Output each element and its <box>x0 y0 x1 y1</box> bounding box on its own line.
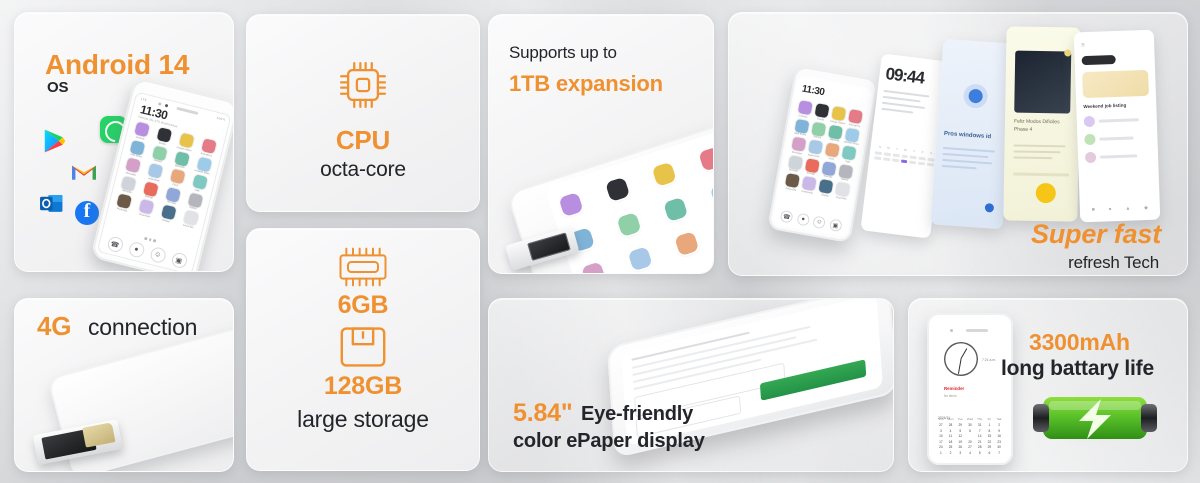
app-tile-icon <box>797 100 812 115</box>
calendar-day[interactable]: 24 <box>936 445 946 449</box>
card-storage[interactable]: 6GB 128GB large storage <box>246 228 480 471</box>
app-tile-label: Recorder <box>789 168 799 172</box>
fan-list-heading: Weekend job listing <box>1083 103 1126 109</box>
app-tile-icon <box>808 140 823 155</box>
cpu-chip-icon <box>335 57 391 113</box>
refresh-subtitle: refresh Tech <box>1068 253 1159 273</box>
calendar-day[interactable]: 18 <box>946 440 956 444</box>
expansion-line2: 1TB expansion <box>509 71 663 97</box>
calendar-week: 3456789 <box>936 429 1004 433</box>
calendar-day[interactable]: 15 <box>985 434 995 438</box>
calendar-week: 24252627282930 <box>936 445 1004 449</box>
app-tile-icon <box>818 179 833 194</box>
calendar-week: 1234567 <box>936 451 1004 455</box>
app-tile[interactable]: Clock <box>823 142 842 161</box>
calendar-day[interactable]: 25 <box>946 445 956 449</box>
calendar-day[interactable]: 14 <box>975 434 985 438</box>
app-tile[interactable]: Wireless Share <box>843 127 862 146</box>
app-tile-icon <box>791 137 806 152</box>
epaper-line2: color ePaper display <box>513 430 705 453</box>
expansion-line1: Supports up to <box>509 43 617 63</box>
app-tile[interactable]: Recorder <box>786 154 805 173</box>
app-tile-label: Settings <box>806 172 815 176</box>
app-tile[interactable] <box>652 162 677 187</box>
fan-screen-article: Feliz Modos Dificiles Phase 4 <box>1003 26 1080 221</box>
app-tile[interactable] <box>605 177 630 202</box>
calendar-weekday: Mon <box>946 417 956 421</box>
app-tile[interactable]: Gallery <box>836 163 855 182</box>
ram-chip-icon <box>333 245 393 289</box>
app-tile[interactable] <box>581 262 606 274</box>
dock-phone-icon: ☎ <box>106 235 124 253</box>
app-tile[interactable]: Bluetooth <box>826 124 845 143</box>
calendar-day[interactable]: 23 <box>994 440 1004 444</box>
app-tile-icon <box>814 103 829 118</box>
app-tile-icon <box>835 182 850 197</box>
card-battery[interactable]: 7:21 a.m. Reminder No items 2024/11 SunM… <box>908 298 1188 472</box>
app-tile-label: Emails <box>817 117 824 121</box>
app-tile[interactable] <box>674 231 699 256</box>
app-tile[interactable]: Web Series <box>792 118 811 137</box>
analog-clock-widget <box>944 342 978 376</box>
app-tile[interactable]: Emergency <box>846 109 865 128</box>
refresh-phone-grid: ContactsEmailsCharge StationEmergencyWeb… <box>782 100 865 201</box>
calendar-day[interactable]: 2 <box>994 423 1004 427</box>
app-tile-label: Gallery <box>841 178 849 182</box>
card-connection[interactable]: 4G connection <box>14 298 234 472</box>
app-tile[interactable] <box>616 212 641 237</box>
fan-screen-list: ☰ Weekend job listing ■●▲◆ <box>1074 30 1161 223</box>
app-tile-label: Camera <box>154 159 163 164</box>
card-expansion[interactable]: Supports up to 1TB expansion <box>488 14 714 274</box>
app-tile[interactable]: Display <box>156 203 181 224</box>
refresh-phone-clock: 11:30 <box>801 83 825 98</box>
dock-message-icon: ● <box>127 241 145 259</box>
calendar-day[interactable]: 1 <box>936 451 946 455</box>
storage-caption: large storage <box>247 406 479 433</box>
storage-disk-icon <box>337 323 389 371</box>
calendar-day[interactable]: 7 <box>975 429 985 433</box>
dock-contacts-icon: ☺ <box>812 215 826 229</box>
fan-article-heading: Feliz Modos Dificiles Phase 4 <box>1014 119 1070 135</box>
app-tile[interactable] <box>698 147 714 172</box>
battery-capacity: 3300mAh <box>1029 329 1130 356</box>
app-tile[interactable]: Audio Book <box>806 139 825 158</box>
app-tile-icon <box>842 146 857 161</box>
calendar-day[interactable]: 5 <box>955 429 965 433</box>
phone-mockup-sim <box>47 319 234 472</box>
calendar-day[interactable]: 11 <box>946 434 956 438</box>
calendar-day[interactable]: 29 <box>955 423 965 427</box>
clock-label: 7:21 a.m. <box>982 358 996 362</box>
app-tile[interactable]: Sound Mix <box>178 209 203 230</box>
app-tile[interactable]: YouTube <box>819 160 838 179</box>
app-tile-label: Camera <box>813 135 822 139</box>
connection-badge: 4G <box>37 311 71 342</box>
calendar-day[interactable]: 3 <box>955 451 965 455</box>
app-tile-label: Calls <box>845 160 851 164</box>
calendar-day[interactable]: 13 <box>965 434 975 438</box>
calendar-week: 10111213141516 <box>936 434 1004 438</box>
calendar-weekday: Tue <box>955 417 965 421</box>
calendar-day[interactable]: 30 <box>994 445 1004 449</box>
calendar-day[interactable]: 4 <box>965 451 975 455</box>
app-tile[interactable]: Downloads <box>799 176 818 195</box>
rom-value: 128GB <box>247 372 479 401</box>
calendar-day[interactable]: 26 <box>955 445 965 449</box>
reminder-title: Reminder <box>944 386 964 391</box>
battery-charging-icon <box>1025 391 1165 445</box>
calendar-day[interactable]: 21 <box>975 440 985 444</box>
epaper-line1: Eye-friendly <box>581 403 693 426</box>
app-tile-icon <box>802 176 817 191</box>
calendar-weekday: Thu <box>975 417 985 421</box>
calendar-day[interactable]: 2 <box>946 451 956 455</box>
dock-apps-icon: ▣ <box>829 218 843 232</box>
fan-clock-time: 09:44 <box>884 64 925 89</box>
dock-message-icon: ● <box>796 213 810 227</box>
calendar-day[interactable]: 31 <box>975 423 985 427</box>
calendar-weekday: Sat <box>994 417 1004 421</box>
calendar-day[interactable]: 20 <box>965 440 975 444</box>
ram-value: 6GB <box>247 291 479 320</box>
app-tile-label: Calls <box>195 188 201 192</box>
app-tile-icon <box>825 143 840 158</box>
android-title: Android 14 <box>45 49 189 81</box>
app-tile[interactable]: Photo Edit <box>782 173 801 192</box>
battery-caption: long battary life <box>1001 357 1154 381</box>
calendar-day[interactable]: 22 <box>985 440 995 444</box>
feature-card-grid: Android 14 OS <box>0 0 1200 483</box>
calendar-day[interactable]: 27 <box>965 445 975 449</box>
facebook-icon <box>75 201 99 225</box>
calendar-day[interactable]: 17 <box>936 440 946 444</box>
app-tile[interactable]: Downloads <box>134 198 159 219</box>
epaper-size: 5.84" <box>513 399 573 428</box>
calendar-day[interactable]: 9 <box>994 429 1004 433</box>
app-tile-icon <box>831 106 846 121</box>
calendar-day[interactable]: 28 <box>946 423 956 427</box>
fan-assistant-heading: Pros windows id <box>944 131 992 140</box>
status-right: 100% <box>216 116 226 122</box>
app-tile[interactable]: Camera <box>809 121 828 140</box>
app-tile[interactable]: Charge Station <box>829 106 848 125</box>
calendar-day[interactable]: 12 <box>955 434 965 438</box>
app-tile-label: Bluetooth <box>829 138 839 143</box>
gmail-icon <box>71 161 97 181</box>
app-tile[interactable] <box>558 192 583 217</box>
cpu-subtitle: octa-core <box>247 158 479 182</box>
refresh-title: Super fast <box>1031 219 1161 250</box>
calendar-day[interactable]: 28 <box>975 445 985 449</box>
calendar-day[interactable]: 6 <box>965 429 975 433</box>
app-tile[interactable]: Display <box>816 179 835 198</box>
calendar-day[interactable]: 27 <box>936 423 946 427</box>
app-tile[interactable]: Photo Edit <box>112 192 137 213</box>
dock-contacts-icon: ☺ <box>149 246 167 264</box>
micro-sd-card <box>82 422 115 447</box>
phone-mockup-sdcard <box>498 90 714 274</box>
app-tile-icon <box>785 173 800 188</box>
app-tile-label: Display <box>821 193 829 197</box>
calendar-day[interactable]: 6 <box>985 451 995 455</box>
app-tile[interactable] <box>663 197 688 222</box>
reminder-sub: No items <box>944 394 957 398</box>
calendar-day[interactable]: 1 <box>985 423 995 427</box>
calendar-day[interactable]: 10 <box>936 434 946 438</box>
phone-mockup-android: LTE 100% 11:30 Glicole Ma 275 Wednesday … <box>90 77 234 272</box>
calendar-weekday: Wed <box>965 417 975 421</box>
dock-phone-icon: ☎ <box>780 210 794 224</box>
calendar-grid: SunMonTueWedThuFriSat 272829303112345678… <box>936 417 1004 455</box>
play-store-icon <box>41 128 67 154</box>
phone-app-grid: ContactsEmailsCharge StationEmergencyWeb… <box>112 121 221 231</box>
calendar-day[interactable]: 7 <box>994 451 1004 455</box>
app-tile[interactable] <box>628 247 653 272</box>
android-subtitle: OS <box>47 79 68 96</box>
app-tile[interactable]: Emails <box>812 103 831 122</box>
app-tile[interactable]: Sound Mix <box>833 182 852 201</box>
cpu-title: CPU <box>247 125 479 156</box>
app-tile[interactable]: Contacts <box>795 100 814 119</box>
app-tile-icon <box>848 109 863 124</box>
card-android-os[interactable]: Android 14 OS <box>14 12 234 272</box>
app-tile-label: Settings <box>145 195 154 200</box>
connection-label: connection <box>88 314 197 341</box>
calendar-weekday: Sun <box>936 417 946 421</box>
calendar-day[interactable]: 5 <box>975 451 985 455</box>
calendar-day[interactable]: 30 <box>965 423 975 427</box>
calendar-weekday: Fri <box>985 417 995 421</box>
app-tile-label: Clock <box>828 157 834 161</box>
app-tile[interactable]: Settings <box>803 157 822 176</box>
calendar-day[interactable]: 19 <box>955 440 965 444</box>
calendar-week: 17181920212223 <box>936 440 1004 444</box>
calendar-week: 272829303112 <box>936 423 1004 427</box>
calendar-day[interactable]: 3 <box>936 429 946 433</box>
card-epaper[interactable]: 5.84" Eye-friendly color ePaper display <box>488 298 894 472</box>
calendar-day[interactable]: 16 <box>994 434 1004 438</box>
calendar-day[interactable]: 4 <box>946 429 956 433</box>
phone-mockup-battery: 7:21 a.m. Reminder No items 2024/11 SunM… <box>927 313 1013 465</box>
page-indicator <box>144 237 156 242</box>
app-tile[interactable]: Messages <box>789 136 808 155</box>
app-tile-label: YouTube <box>823 174 832 178</box>
calendar-day[interactable]: 29 <box>985 445 995 449</box>
app-tile-label: Gallery <box>189 206 197 211</box>
card-cpu[interactable]: CPU octa-core <box>246 14 480 212</box>
calendar-day[interactable]: 8 <box>985 429 995 433</box>
app-tile[interactable]: Calls <box>840 145 859 164</box>
outlook-icon <box>39 191 64 216</box>
app-tile[interactable] <box>710 181 714 206</box>
dock-apps-icon: ▣ <box>170 251 188 269</box>
card-refresh[interactable]: 11:30 ContactsEmailsCharge StationEmerge… <box>728 12 1188 276</box>
